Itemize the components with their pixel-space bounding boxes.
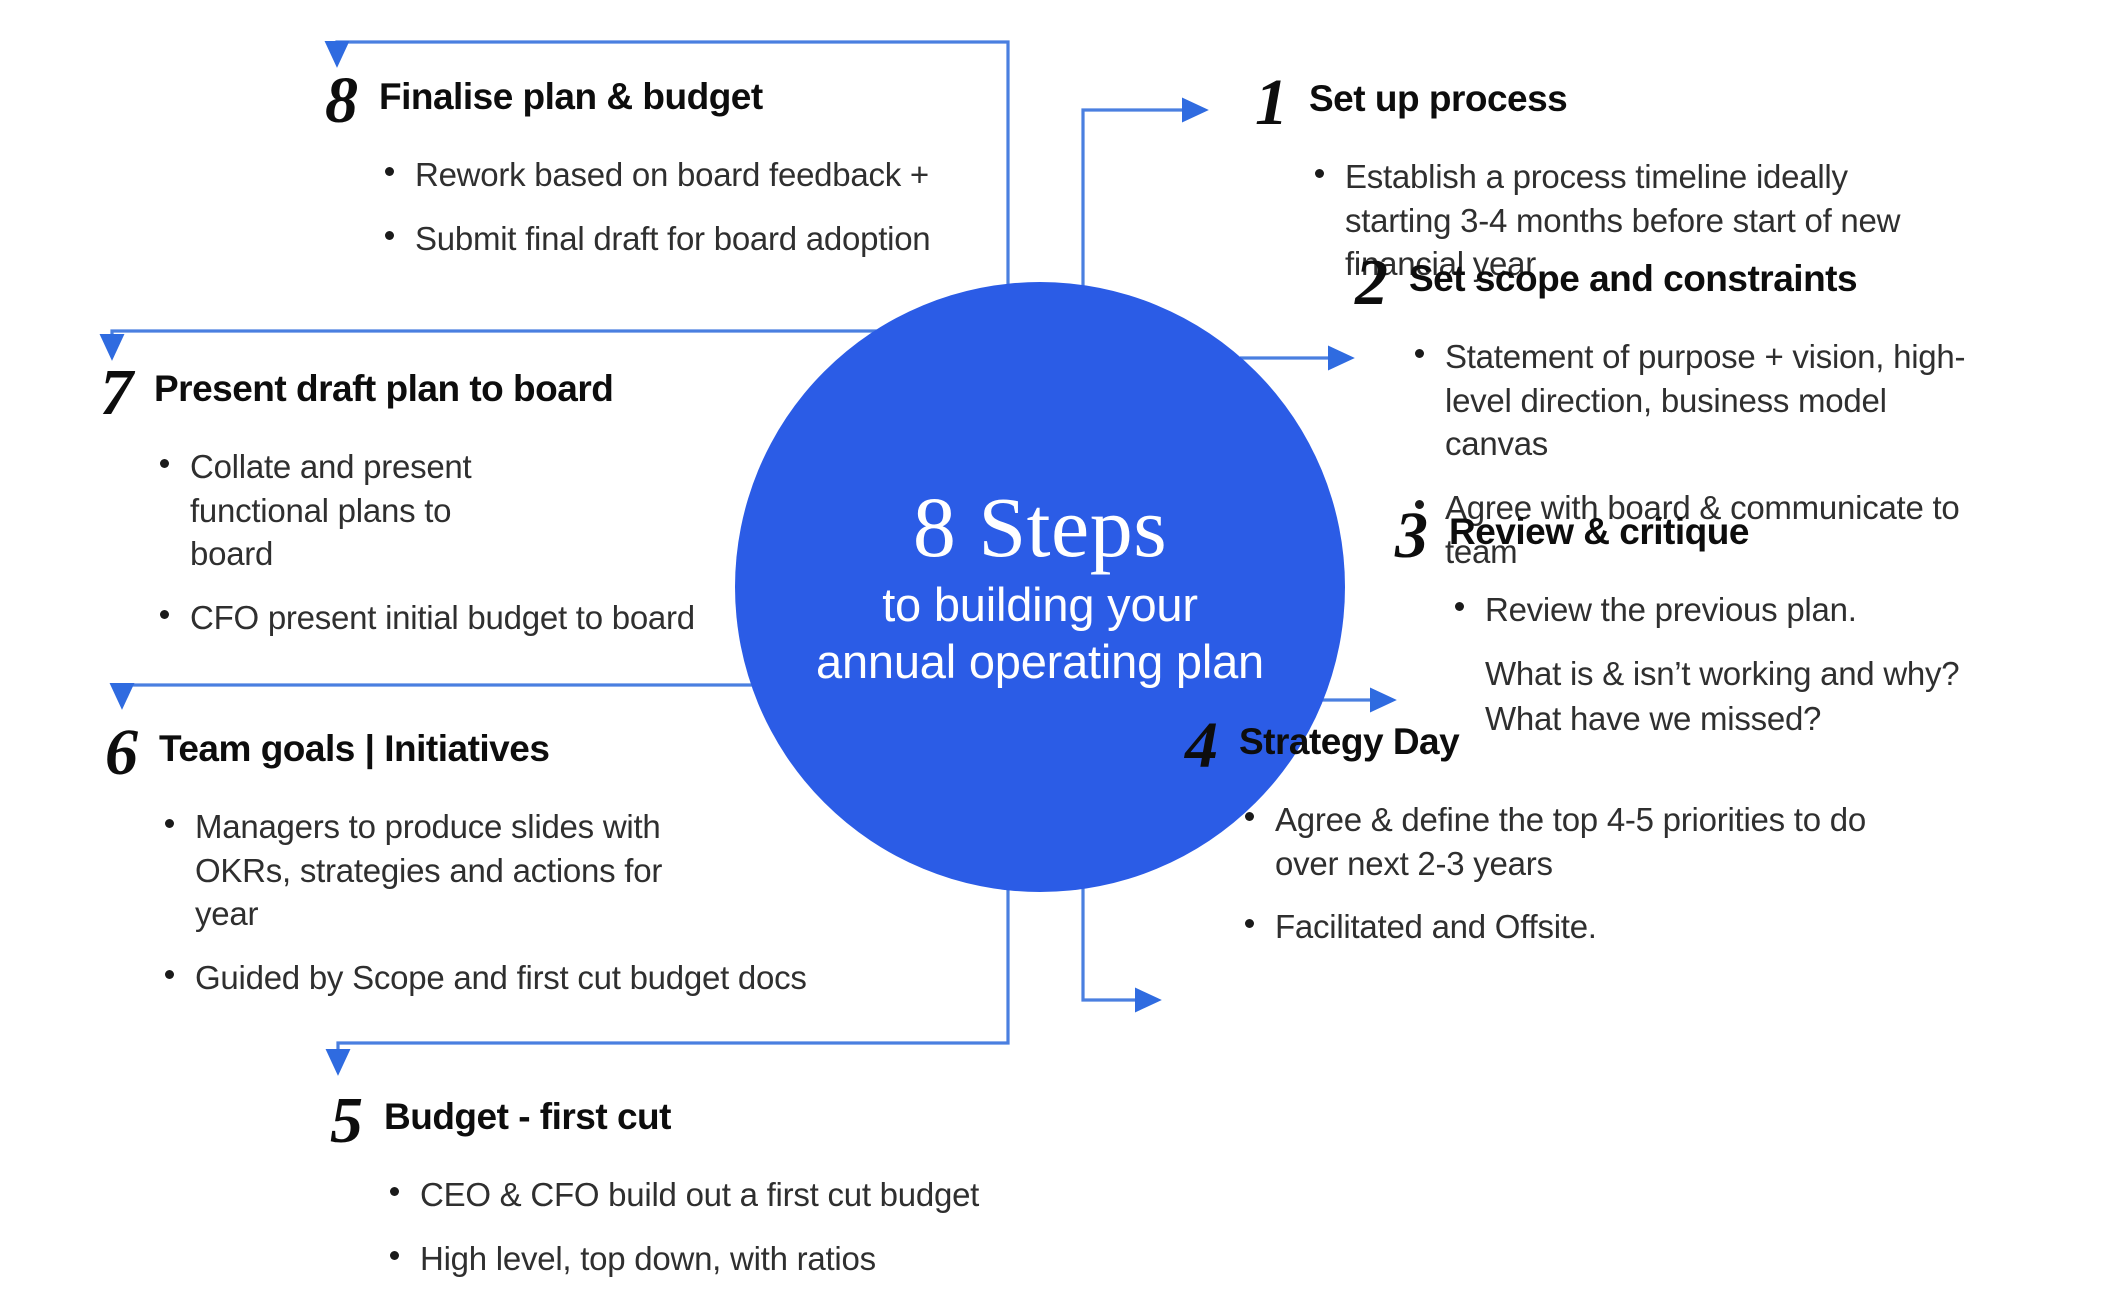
step-8-header: 8 Finalise plan & budget xyxy=(325,70,1025,133)
step-5-bullets: CEO & CFO build out a first cut budget H… xyxy=(386,1173,1050,1281)
step-6-header: 6 Team goals | Initiatives xyxy=(105,722,825,785)
center-subtitle-line2: annual operating plan xyxy=(816,635,1264,688)
step-6-title: Team goals | Initiatives xyxy=(159,722,549,769)
step-1-title: Set up process xyxy=(1309,72,1567,119)
step-5-header: 5 Budget - first cut xyxy=(330,1090,1050,1153)
diagram-canvas: 8 Steps to building your annual operatin… xyxy=(0,0,2112,1302)
step-2-number: 2 xyxy=(1355,252,1409,315)
step-5-title: Budget - first cut xyxy=(384,1090,671,1137)
list-item: Guided by Scope and first cut budget doc… xyxy=(161,956,825,1000)
step-4-number: 4 xyxy=(1185,715,1239,778)
step-7-bullets: Collate and present functional plans to … xyxy=(156,445,740,641)
step-4-header: 4 Strategy Day xyxy=(1185,715,1925,778)
bullet-text: Submit final draft for board adoption xyxy=(415,220,930,257)
step-block-5: 5 Budget - first cut CEO & CFO build out… xyxy=(330,1090,1050,1300)
step-block-7: 7 Present draft plan to board Collate an… xyxy=(100,362,740,660)
arrow-to-step-4 xyxy=(1083,885,1158,1000)
bullet-text: High level, top down, with ratios xyxy=(420,1240,876,1277)
step-2-header: 2 Set scope and constraints xyxy=(1355,252,1995,315)
bullet-dot-icon xyxy=(1245,919,1254,928)
list-item: High level, top down, with ratios xyxy=(386,1237,1050,1281)
bullet-text: CEO & CFO build out a first cut budget xyxy=(420,1176,979,1213)
bullet-dot-icon xyxy=(390,1251,399,1260)
bullet-dot-icon xyxy=(1415,349,1424,358)
bullet-dot-icon xyxy=(165,819,174,828)
step-7-title: Present draft plan to board xyxy=(154,362,613,409)
step-6-number: 6 xyxy=(105,722,159,785)
list-item: Managers to produce slides with OKRs, st… xyxy=(161,805,715,937)
bullet-dot-icon xyxy=(385,167,394,176)
step-1-number: 1 xyxy=(1255,72,1309,135)
list-item: Collate and present functional plans to … xyxy=(156,445,530,577)
step-3-number: 3 xyxy=(1395,505,1449,568)
list-item: Agree & define the top 4-5 priorities to… xyxy=(1241,798,1925,886)
step-3-title: Review & critique xyxy=(1449,505,1749,552)
step-8-number: 8 xyxy=(325,70,379,133)
bullet-dot-icon xyxy=(165,970,174,979)
bullet-dot-icon xyxy=(1455,602,1464,611)
list-item: Review the previous plan. xyxy=(1451,588,1995,632)
step-block-4: 4 Strategy Day Agree & define the top 4-… xyxy=(1185,715,1925,969)
step-3-header: 3 Review & critique xyxy=(1395,505,1995,568)
list-item: Rework based on board feedback + xyxy=(381,153,1025,197)
bullet-text: Statement of purpose + vision, high-leve… xyxy=(1445,338,1965,463)
arrow-to-step-7 xyxy=(112,331,880,357)
step-8-bullets: Rework based on board feedback + Submit … xyxy=(381,153,1025,261)
list-item: CFO present initial budget to board xyxy=(156,596,740,640)
bullet-text: Review the previous plan. xyxy=(1485,591,1857,628)
bullet-dot-icon xyxy=(385,231,394,240)
step-4-bullets: Agree & define the top 4-5 priorities to… xyxy=(1241,798,1925,950)
step-block-8: 8 Finalise plan & budget Rework based on… xyxy=(325,70,1025,280)
center-subtitle: to building your annual operating plan xyxy=(788,576,1292,691)
step-1-header: 1 Set up process xyxy=(1255,72,1955,135)
bullet-dot-icon xyxy=(390,1187,399,1196)
bullet-text: Guided by Scope and first cut budget doc… xyxy=(195,959,807,996)
bullet-text: Managers to produce slides with OKRs, st… xyxy=(195,808,662,933)
list-item: Statement of purpose + vision, high-leve… xyxy=(1411,335,1995,467)
bullet-dot-icon xyxy=(160,610,169,619)
arrow-to-step-6 xyxy=(122,685,800,706)
list-item: CEO & CFO build out a first cut budget xyxy=(386,1173,1050,1217)
list-item: What is & isn’t working and why? xyxy=(1451,652,1995,696)
step-5-number: 5 xyxy=(330,1090,384,1153)
step-8-title: Finalise plan & budget xyxy=(379,70,763,117)
center-title: 8 Steps xyxy=(913,484,1167,570)
list-item: Facilitated and Offsite. xyxy=(1241,905,1925,949)
step-6-bullets: Managers to produce slides with OKRs, st… xyxy=(161,805,825,1001)
bullet-text: What is & isn’t working and why? xyxy=(1485,655,1959,692)
bullet-text: Collate and present functional plans to … xyxy=(190,448,471,573)
step-7-number: 7 xyxy=(100,362,154,425)
center-subtitle-line1: to building your xyxy=(882,578,1198,631)
step-7-header: 7 Present draft plan to board xyxy=(100,362,740,425)
bullet-dot-icon xyxy=(1315,169,1324,178)
bullet-text: CFO present initial budget to board xyxy=(190,599,695,636)
bullet-dot-icon xyxy=(160,459,169,468)
step-2-title: Set scope and constraints xyxy=(1409,252,1857,299)
bullet-text: Agree & define the top 4-5 priorities to… xyxy=(1275,801,1866,882)
list-item: Submit final draft for board adoption xyxy=(381,217,1025,261)
bullet-text: Rework based on board feedback + xyxy=(415,156,929,193)
bullet-dot-icon xyxy=(1245,812,1254,821)
step-4-title: Strategy Day xyxy=(1239,715,1459,762)
bullet-text: Facilitated and Offsite. xyxy=(1275,908,1597,945)
step-block-6: 6 Team goals | Initiatives Managers to p… xyxy=(105,722,825,1020)
